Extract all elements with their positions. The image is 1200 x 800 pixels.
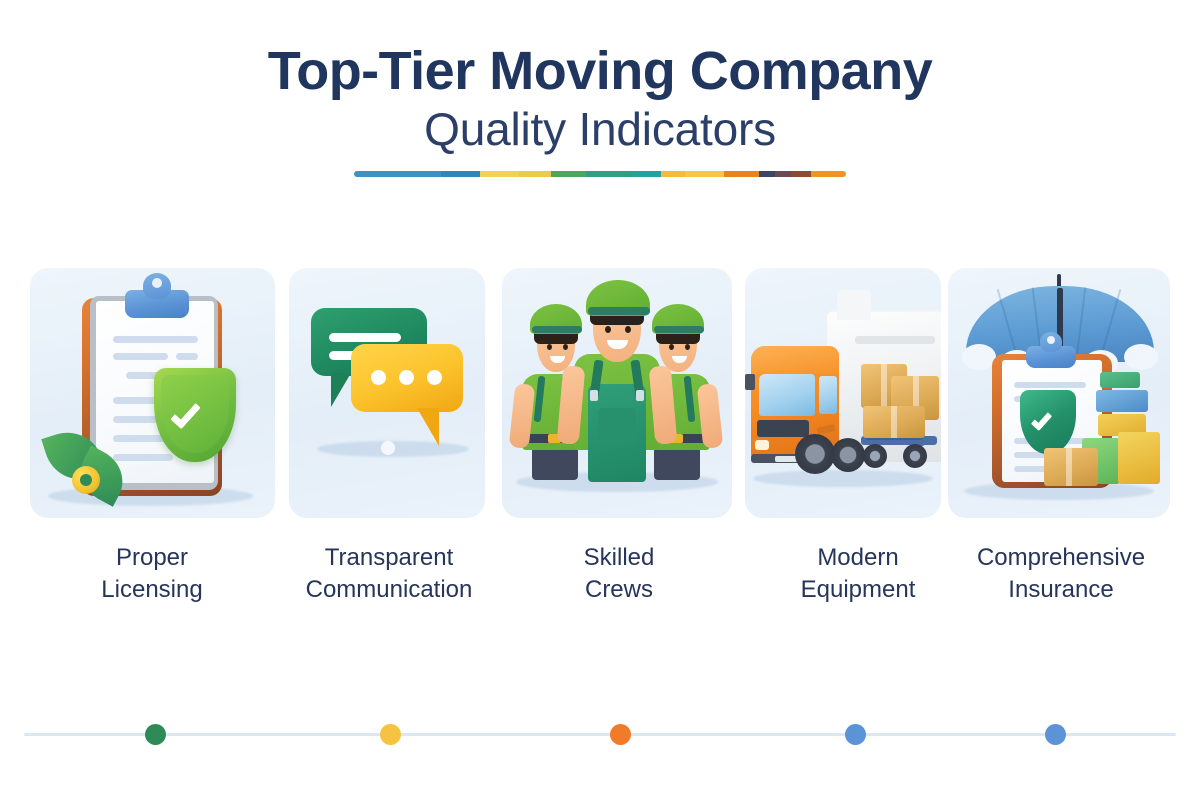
header: Top-Tier Moving Company Quality Indicato… bbox=[0, 42, 1200, 177]
moving-truck-icon bbox=[745, 268, 941, 518]
clipboard-shield-icon bbox=[30, 268, 275, 518]
card-label-1: TransparentCommunication bbox=[259, 542, 519, 607]
title-divider-bar bbox=[354, 171, 846, 177]
quality-indicator-cards bbox=[0, 268, 1200, 518]
divider-segment-2 bbox=[480, 171, 519, 177]
card-label-line1: Proper bbox=[22, 542, 282, 574]
divider-segment-0 bbox=[354, 171, 441, 177]
page-title: Top-Tier Moving Company bbox=[0, 42, 1200, 100]
divider-segment-11 bbox=[775, 171, 791, 177]
card-comprehensive-insurance[interactable] bbox=[948, 268, 1170, 518]
divider-segment-13 bbox=[811, 171, 846, 177]
divider-segment-9 bbox=[724, 171, 759, 177]
timeline-dot-equipment[interactable] bbox=[845, 724, 866, 745]
timeline-dot-licensing[interactable] bbox=[145, 724, 166, 745]
divider-segment-8 bbox=[685, 171, 724, 177]
card-label-line2: Crews bbox=[489, 574, 749, 606]
timeline-dot-communication[interactable] bbox=[380, 724, 401, 745]
card-labels: ProperLicensingTransparentCommunicationS… bbox=[0, 542, 1200, 612]
umbrella-insurance-icon bbox=[948, 268, 1170, 518]
divider-segment-5 bbox=[586, 171, 633, 177]
infographic-page: Top-Tier Moving Company Quality Indicato… bbox=[0, 0, 1200, 800]
page-subtitle: Quality Indicators bbox=[0, 104, 1200, 155]
divider-segment-7 bbox=[661, 171, 685, 177]
card-label-2: SkilledCrews bbox=[489, 542, 749, 607]
card-label-line2: Insurance bbox=[931, 574, 1191, 606]
moving-crew-icon bbox=[502, 268, 732, 518]
divider-segment-10 bbox=[759, 171, 775, 177]
divider-segment-6 bbox=[633, 171, 661, 177]
timeline bbox=[0, 700, 1200, 770]
card-label-line1: Comprehensive bbox=[931, 542, 1191, 574]
divider-segment-12 bbox=[791, 171, 811, 177]
card-skilled-crews[interactable] bbox=[502, 268, 732, 518]
timeline-dot-crews[interactable] bbox=[610, 724, 631, 745]
card-modern-equipment[interactable] bbox=[745, 268, 941, 518]
divider-segment-1 bbox=[441, 171, 480, 177]
speech-bubbles-icon bbox=[289, 268, 485, 518]
card-label-0: ProperLicensing bbox=[22, 542, 282, 607]
card-label-line1: Transparent bbox=[259, 542, 519, 574]
card-label-line2: Communication bbox=[259, 574, 519, 606]
card-label-line1: Skilled bbox=[489, 542, 749, 574]
card-label-4: ComprehensiveInsurance bbox=[931, 542, 1191, 607]
card-proper-licensing[interactable] bbox=[30, 268, 275, 518]
card-transparent-communication[interactable] bbox=[289, 268, 485, 518]
divider-segment-4 bbox=[551, 171, 586, 177]
divider-segment-3 bbox=[519, 171, 550, 177]
timeline-dot-insurance[interactable] bbox=[1045, 724, 1066, 745]
card-label-line2: Licensing bbox=[22, 574, 282, 606]
